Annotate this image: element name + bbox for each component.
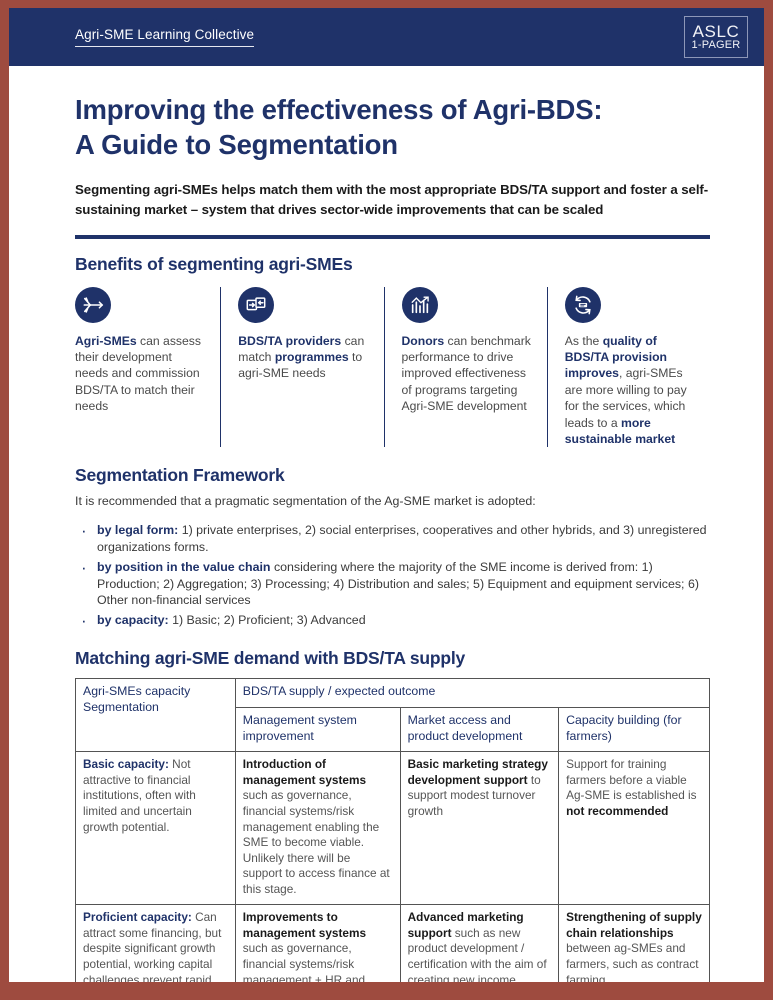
page-subtitle: Segmenting agri-SMEs helps match them wi… [75, 180, 710, 219]
benefit-lead: Donors [402, 334, 445, 348]
table-row: Basic capacity: Not attractive to financ… [76, 752, 710, 905]
page-title-line1: Improving the effectiveness of Agri-BDS: [75, 94, 602, 125]
header-bar: Agri-SME Learning Collective ASLC 1-PAGE… [9, 8, 764, 66]
benefit-item-bds-ta-providers: BDS/TA providers can match programmes to… [220, 287, 383, 447]
list-item: by capacity: 1) Basic; 2) Proficient; 3)… [75, 612, 710, 629]
matching-panels-icon [238, 287, 274, 323]
framework-heading: Segmentation Framework [75, 465, 710, 486]
cell-bold: Improvements to management systems [243, 910, 366, 940]
framework-bullet-list: by legal form: 1) private enterprises, 2… [75, 522, 710, 630]
list-item: by legal form: 1) private enterprises, 2… [75, 522, 710, 556]
benefit-item-donors: Donors can benchmark performance to driv… [384, 287, 547, 447]
segment-label: Proficient capacity: [83, 910, 192, 924]
title-divider [75, 235, 710, 239]
benefit-pre: As the [565, 334, 603, 348]
table-header-row-top: Agri-SMEs capacity Segmentation BDS/TA s… [76, 679, 710, 708]
brand-label: Agri-SME Learning Collective [75, 27, 254, 47]
benefits-section: Benefits of segmenting agri-SMEs [75, 254, 710, 447]
bullet-label: by legal form: [97, 523, 178, 537]
th-capacity-building: Capacity building (for farmers) [559, 708, 710, 752]
cell-management: Improvements to management systems such … [235, 905, 400, 982]
document-content: Improving the effectiveness of Agri-BDS:… [9, 66, 764, 982]
cell-bold: Introduction of management systems [243, 757, 366, 787]
logo-sub-text: 1-PAGER [692, 40, 741, 51]
th-management-system: Management system improvement [235, 708, 400, 752]
framework-lead: It is recommended that a pragmatic segme… [75, 493, 710, 510]
benefits-list: Agri-SMEs can assess their development n… [75, 287, 710, 447]
circular-refresh-icon [565, 287, 601, 323]
cell-capacity: Strengthening of supply chain relationsh… [559, 905, 710, 982]
cell-management: Introduction of management systems such … [235, 752, 400, 905]
page-title-line2: A Guide to Segmentation [75, 129, 398, 160]
matching-heading: Matching agri-SME demand with BDS/TA sup… [75, 648, 710, 669]
cell-market: Basic marketing strategy development sup… [400, 752, 559, 905]
benefit-text: BDS/TA providers can match programmes to… [238, 333, 369, 382]
benefit-text: Donors can benchmark performance to driv… [402, 333, 533, 415]
cell-bold: Strengthening of supply chain relationsh… [566, 910, 702, 940]
page-frame: Agri-SME Learning Collective ASLC 1-PAGE… [0, 0, 773, 1000]
cell-pre: Support for training farmers before a vi… [566, 757, 696, 802]
benefit-lead: Agri-SMEs [75, 334, 137, 348]
th-capacity-segmentation: Agri-SMEs capacity Segmentation [76, 679, 236, 752]
benefits-heading: Benefits of segmenting agri-SMEs [75, 254, 710, 275]
bullet-text: 1) Basic; 2) Proficient; 3) Advanced [169, 613, 366, 627]
th-bds-ta-supply: BDS/TA supply / expected outcome [235, 679, 709, 708]
cell-rest: such as governance, financial systems/ri… [243, 941, 390, 982]
bullet-label: by capacity: [97, 613, 169, 627]
list-item: by position in the value chain consideri… [75, 559, 710, 610]
matching-table: Agri-SMEs capacity Segmentation BDS/TA s… [75, 678, 710, 982]
cell-post: between ag-SMEs and farmers, such as con… [566, 941, 698, 982]
benefit-item-agri-smes: Agri-SMEs can assess their development n… [75, 287, 220, 447]
benefit-item-quality: As the quality of BDS/TA provision impro… [547, 287, 710, 447]
benefit-lead2: programmes [275, 350, 349, 364]
bullet-label: by position in the value chain [97, 560, 271, 574]
benefit-text: Agri-SMEs can assess their development n… [75, 333, 206, 415]
cell-bold: not recommended [566, 804, 668, 818]
logo-main-text: ASLC [693, 23, 740, 40]
benefit-text: As the quality of BDS/TA provision impro… [565, 333, 696, 447]
cell-market: Advanced marketing support such as new p… [400, 905, 559, 982]
bar-chart-growth-icon [402, 287, 438, 323]
cell-segment: Basic capacity: Not attractive to financ… [76, 752, 236, 905]
benefit-lead: BDS/TA providers [238, 334, 341, 348]
aslc-logo: ASLC 1-PAGER [684, 16, 748, 58]
framework-section: Segmentation Framework It is recommended… [75, 465, 710, 629]
page-title: Improving the effectiveness of Agri-BDS:… [75, 92, 710, 163]
arrows-converging-icon [75, 287, 111, 323]
matching-section: Matching agri-SME demand with BDS/TA sup… [75, 648, 710, 982]
segment-label: Basic capacity: [83, 757, 169, 771]
table-row: Proficient capacity: Can attract some fi… [76, 905, 710, 982]
cell-segment: Proficient capacity: Can attract some fi… [76, 905, 236, 982]
cell-rest: such as governance, financial systems/ri… [243, 788, 390, 895]
bullet-text: 1) private enterprises, 2) social enterp… [97, 523, 707, 554]
th-market-access: Market access and product development [400, 708, 559, 752]
cell-capacity: Support for training farmers before a vi… [559, 752, 710, 905]
page-sheet: Agri-SME Learning Collective ASLC 1-PAGE… [9, 8, 764, 982]
